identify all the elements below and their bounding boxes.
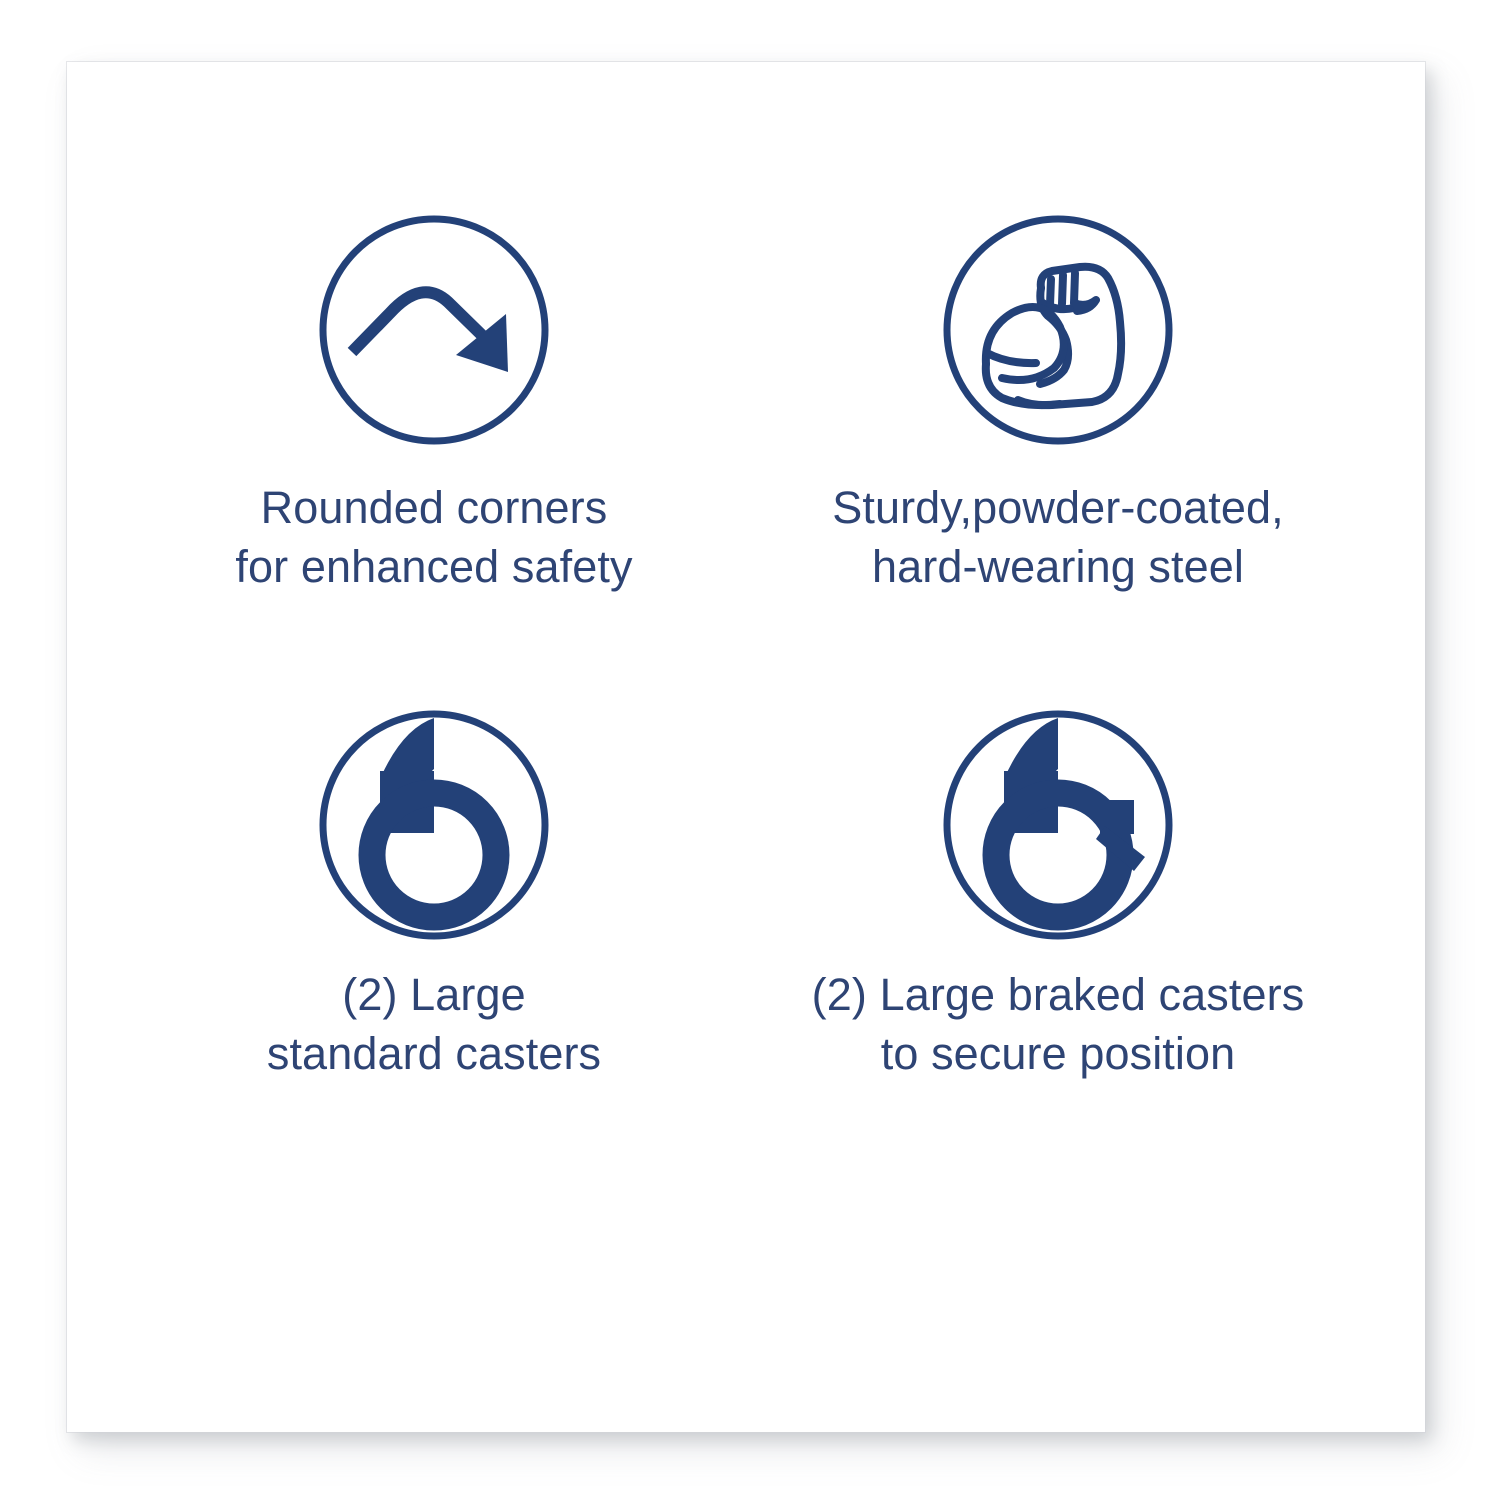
infographic-page: Rounded corners for enhanced safety (0, 0, 1500, 1500)
flexed-bicep-icon (940, 212, 1176, 448)
feature-grid: Rounded corners for enhanced safety (67, 62, 1425, 1432)
feature-rounded-corners: Rounded corners for enhanced safety (122, 212, 746, 707)
feature-caption: (2) Large standard casters (267, 965, 601, 1084)
standard-caster-icon (316, 707, 552, 943)
feature-sturdy-steel: Sturdy,powder-coated, hard-wearing steel (746, 212, 1370, 707)
feature-card: Rounded corners for enhanced safety (67, 62, 1425, 1432)
feature-caption: Rounded corners for enhanced safety (235, 478, 632, 597)
feature-braked-casters: (2) Large braked casters to secure posit… (746, 707, 1370, 1202)
feature-standard-casters: (2) Large standard casters (122, 707, 746, 1202)
feature-caption: Sturdy,powder-coated, hard-wearing steel (832, 478, 1284, 597)
feature-caption: (2) Large braked casters to secure posit… (812, 965, 1305, 1084)
braked-caster-icon (940, 707, 1176, 943)
rounded-corner-arrow-icon (316, 212, 552, 448)
